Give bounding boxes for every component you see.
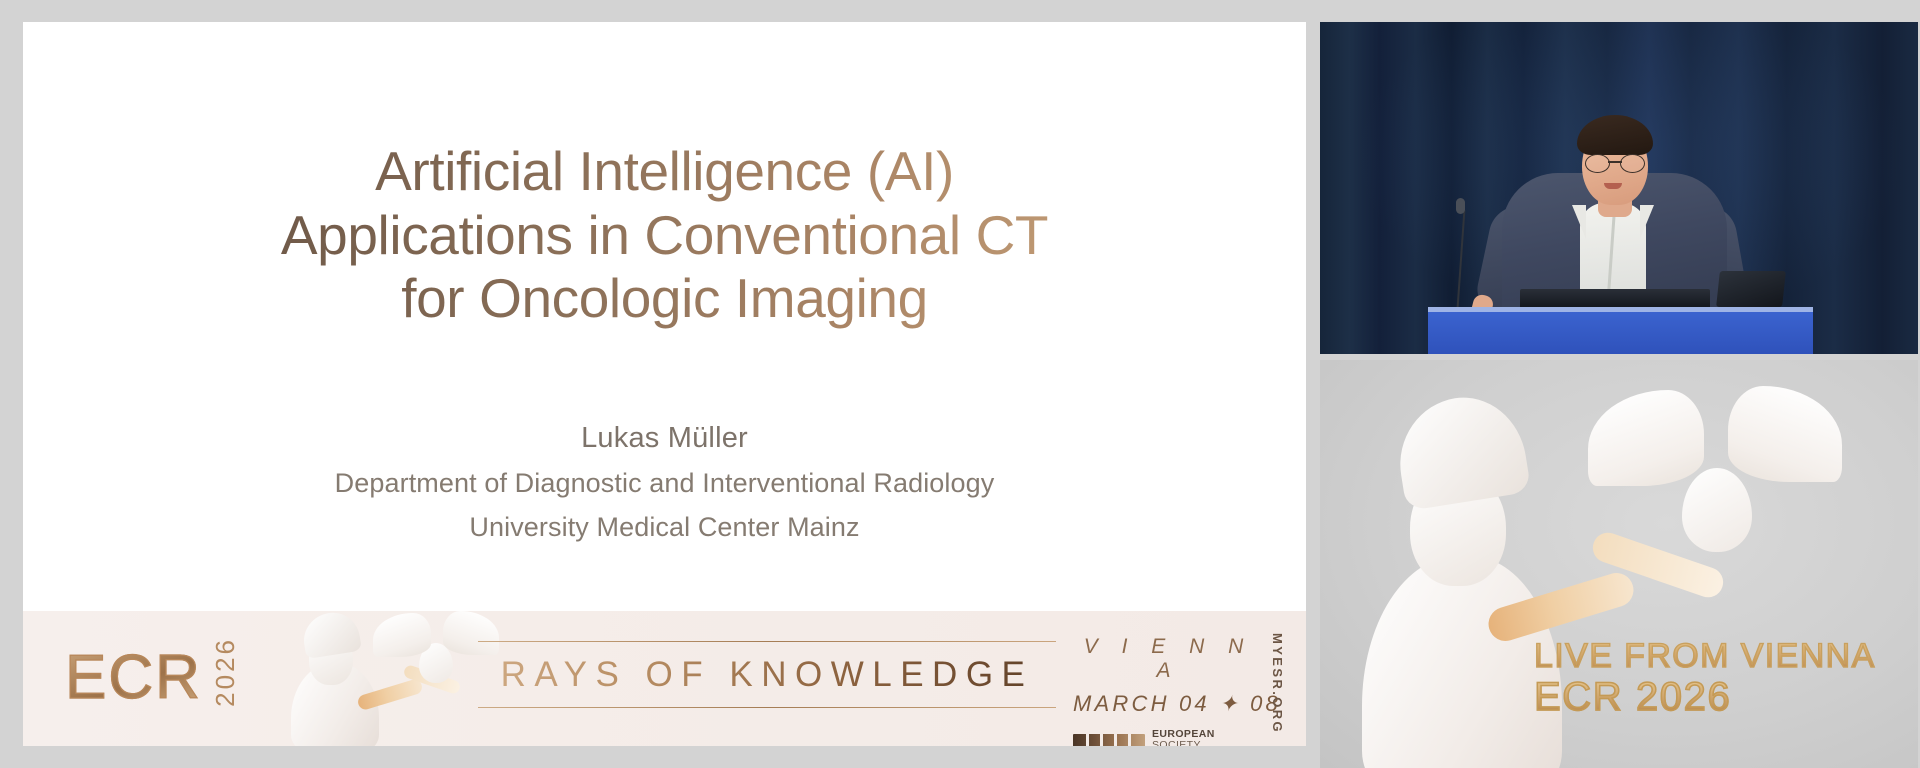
podium [1428,312,1813,354]
athena-helmet-shape-large [1391,389,1532,511]
promo-line-2: ECR 2026 [1534,675,1894,720]
athena-owl-motif-banner [273,611,483,746]
athena-robe-shape-large [1362,556,1562,768]
speaker-collar-left [1572,205,1586,239]
owl-left-wing-shape-large [1588,390,1704,486]
speaker-collar-right [1640,205,1654,239]
glasses-lens-right [1620,154,1645,173]
venue-block: V I E N N A MARCH 04 ✦ 08 EUROPEAN SOCIE… [1073,635,1263,746]
esr-logo-text: EUROPEAN SOCIETY OF RADIOLOGY [1152,729,1263,746]
venue-dates: MARCH 04 ✦ 08 [1073,691,1263,717]
athena-gold-arm-shape [356,678,424,712]
ecr-logo-word: ECR [65,647,202,709]
esr-word-european: EUROPEAN [1152,728,1215,740]
ecr-logo: ECR 2026 [65,637,238,709]
athena-gold-upper-arm [1484,569,1637,645]
esr-logo-mark [1073,734,1145,746]
presentation-slide[interactable]: Artificial Intelligence (AI) Application… [23,22,1306,746]
live-from-vienna-text: LIVE FROM VIENNA ECR 2026 [1534,637,1894,720]
live-from-vienna-promo[interactable]: LIVE FROM VIENNA ECR 2026 [1320,360,1918,768]
affiliation-line-1: Department of Diagnostic and Interventio… [23,468,1306,499]
app-stage: Artificial Intelligence (AI) Application… [0,0,1920,768]
esr-text-line-1: EUROPEAN SOCIETY [1152,729,1263,746]
venue-city: V I E N N A [1073,635,1263,683]
athena-gold-forearm [1589,529,1727,602]
owl-graphic [1570,374,1850,604]
slide-author-block: Lukas Müller Department of Diagnostic an… [23,422,1306,556]
athena-head-shape [309,633,353,685]
glasses-lens-left [1585,154,1610,173]
glasses-bridge [1608,161,1622,163]
ecr-logo-year: 2026 [212,637,238,707]
ecr-tagline-block: RAYS OF KNOWLEDGE [478,641,1056,708]
speaker-hair [1577,115,1653,155]
owl-right-wing-shape-large [1728,386,1842,482]
esr-logo: EUROPEAN SOCIETY OF RADIOLOGY [1073,729,1263,746]
tagline-rule-bottom [478,707,1056,708]
esr-website-url[interactable]: MYESR.ORG [1270,633,1285,729]
athena-helmet-shape [300,611,362,659]
live-speaker-video[interactable] [1320,22,1918,354]
slide-title: Artificial Intelligence (AI) Application… [23,140,1306,331]
owl-body-shape [419,643,453,683]
owl-body-shape-large [1682,468,1752,552]
promo-line-1: LIVE FROM VIENNA [1534,637,1894,675]
slide-content-area: Artificial Intelligence (AI) Application… [23,22,1306,611]
podium-laptop [1520,289,1710,307]
ecr-tagline-text: RAYS OF KNOWLEDGE [478,642,1056,707]
ecr-footer-banner: ECR 2026 RAYS OF KNOWLEDGE V I E N [23,611,1306,746]
author-name: Lukas Müller [23,422,1306,455]
athena-forearm-shape [402,664,461,695]
esr-word-society: SOCIETY [1152,739,1201,746]
podium-monitor [1716,271,1786,307]
microphone-head [1456,198,1465,214]
speaker-glasses [1585,154,1645,171]
athena-robe-shape [291,663,379,746]
athena-head-shape-large [1410,470,1506,586]
affiliation-line-2: University Medical Center Mainz [23,512,1306,543]
slide-title-line-3: for Oncologic Imaging [23,267,1306,331]
owl-left-wing-shape [373,613,431,657]
slide-title-line-2: Applications in Conventional CT [23,204,1306,268]
slide-title-line-1: Artificial Intelligence (AI) [23,140,1306,204]
